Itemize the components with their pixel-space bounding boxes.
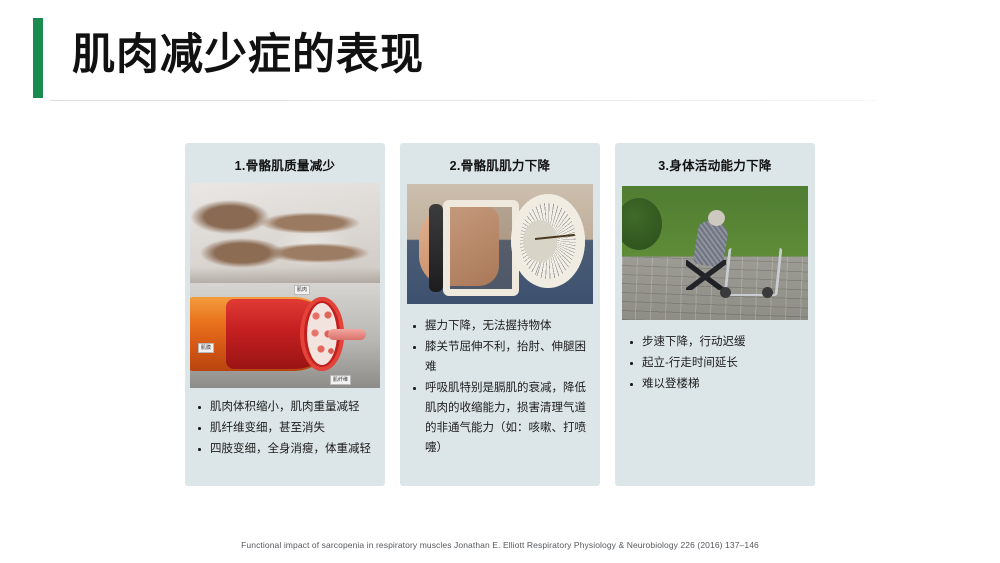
person-head: [708, 210, 725, 226]
list-item: 难以登楼梯: [626, 374, 803, 394]
page-title: 肌肉减少症的表现: [72, 24, 424, 86]
list-item: 肌纤维变细，甚至消失: [194, 418, 375, 438]
list-item: 握力下降，无法握持物体: [409, 316, 590, 336]
card-title: 1.骨骼肌质量减少: [185, 158, 385, 174]
atrophied-legs-photo: [190, 183, 380, 283]
hand-grip-dynamometer-photo: [407, 184, 593, 304]
diagram-label-muscle: 肌肉: [294, 285, 310, 295]
card-muscle-strength: 2.骨骼肌肌力下降 握力下降，无法握持物体 膝关节屈伸不利，抬肘、伸腿困难 呼吸…: [400, 143, 600, 486]
slide-header: 肌肉减少症的表现: [0, 0, 1000, 103]
cards-row: 1.骨骼肌质量减少 肌肉 肌膜 肌纤维 肌肉体积缩小，肌肉重量减轻 肌纤维变细，…: [0, 143, 1000, 488]
title-accent-bar: [33, 18, 43, 98]
header-divider: [50, 100, 876, 101]
card-title: 3.身体活动能力下降: [615, 158, 815, 174]
card-physical-performance: 3.身体活动能力下降 步速下降，行动迟缓 起立-行走时间延长 难以登楼梯: [615, 143, 815, 486]
dynamometer-handle: [429, 204, 443, 292]
card-bullet-list: 肌肉体积缩小，肌肉重量减轻 肌纤维变细，甚至消失 四肢变细，全身消瘦，体重减轻: [194, 397, 375, 459]
card-skeletal-muscle-mass: 1.骨骼肌质量减少 肌肉 肌膜 肌纤维 肌肉体积缩小，肌肉重量减轻 肌纤维变细，…: [185, 143, 385, 486]
walker-wheel: [720, 287, 731, 298]
walker-wheel: [762, 287, 773, 298]
footer-citation: Functional impact of sarcopenia in respi…: [0, 540, 1000, 550]
muscle-fiber-strand: [328, 329, 366, 340]
person-legs: [686, 260, 726, 290]
list-item: 肌肉体积缩小，肌肉重量减轻: [194, 397, 375, 417]
dynamometer-dial-hub: [523, 220, 557, 262]
list-item: 四肢变细，全身消瘦，体重减轻: [194, 439, 375, 459]
card-bullet-list: 握力下降，无法握持物体 膝关节屈伸不利，抬肘、伸腿困难 呼吸肌特别是膈肌的衰减，…: [409, 316, 590, 458]
card-title: 2.骨骼肌肌力下降: [400, 158, 600, 174]
bush-shape: [622, 198, 662, 250]
list-item: 步速下降，行动迟缓: [626, 332, 803, 352]
card-bullet-list: 步速下降，行动迟缓 起立-行走时间延长 难以登楼梯: [626, 332, 803, 394]
walker-frame: [723, 248, 782, 296]
diagram-label-sarcolemma: 肌膜: [198, 343, 214, 353]
list-item: 呼吸肌特别是膈肌的衰减，降低肌肉的收缩能力，损害清理气道的非通气能力（如：咳嗽、…: [409, 378, 590, 458]
list-item: 起立-行走时间延长: [626, 353, 803, 373]
dynamometer-frame: [443, 200, 519, 296]
diagram-label-myofiber: 肌纤维: [330, 375, 351, 385]
photo-shadow: [190, 267, 380, 283]
elderly-person-with-walker-photo: [622, 186, 808, 320]
list-item: 膝关节屈伸不利，抬肘、伸腿困难: [409, 337, 590, 377]
muscle-cross-section-diagram: 肌肉 肌膜 肌纤维: [190, 283, 380, 388]
